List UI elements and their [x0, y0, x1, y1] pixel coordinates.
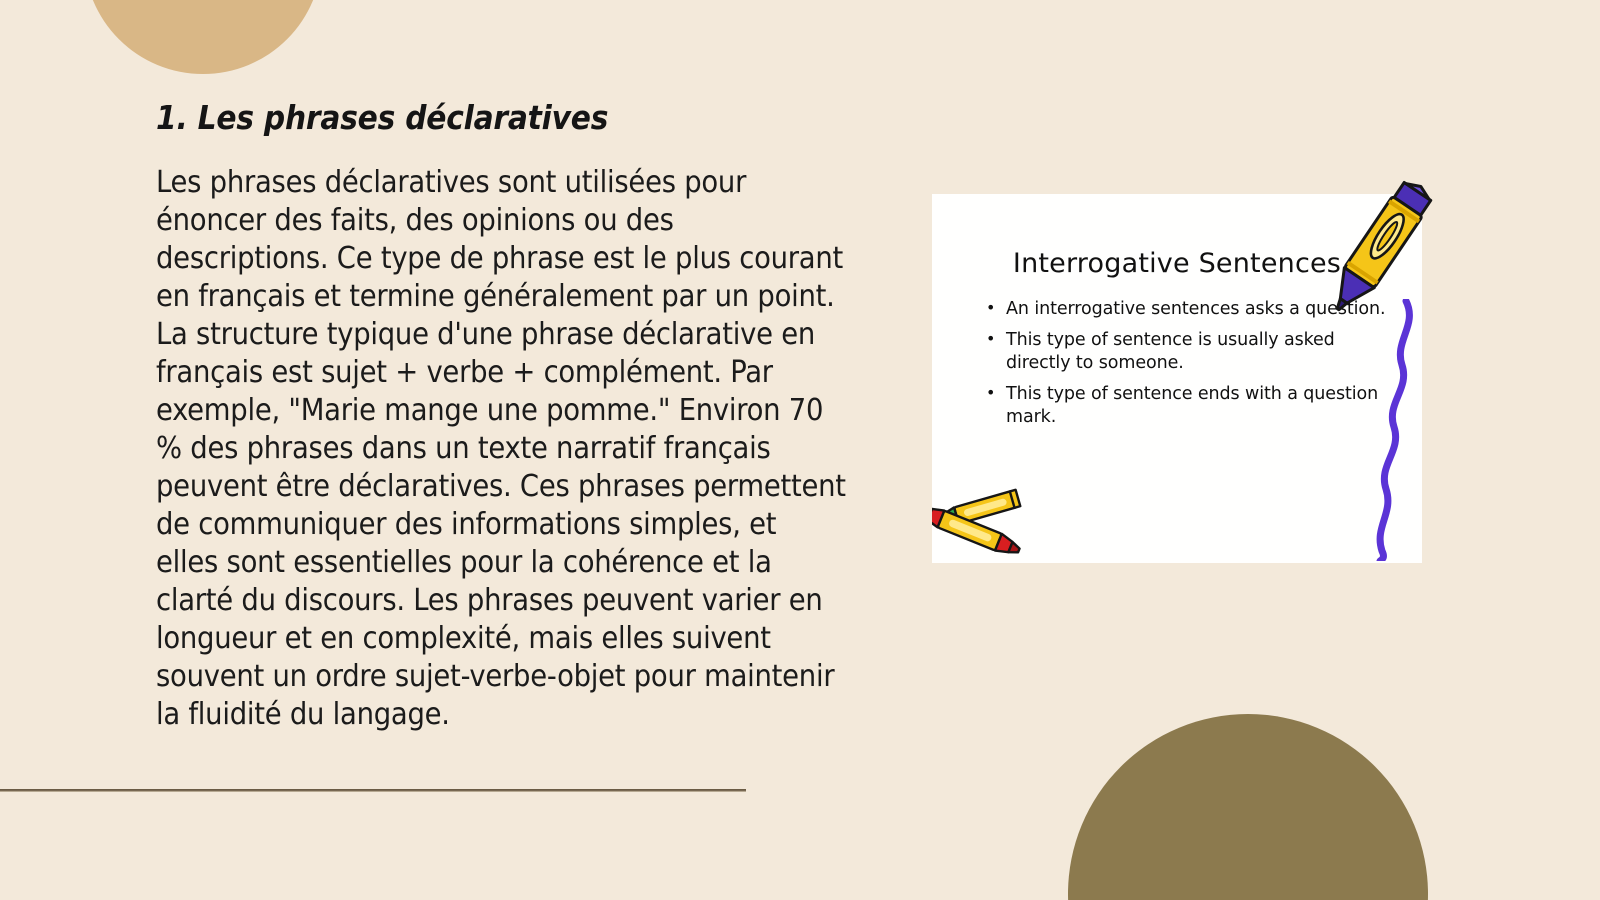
bullet-marker-icon: •	[986, 298, 995, 318]
page-title: 1. Les phrases déclaratives	[156, 100, 846, 136]
text-column: 1. Les phrases déclaratives Les phrases …	[156, 100, 846, 734]
body-paragraph: Les phrases déclaratives sont utilisées …	[156, 164, 846, 734]
picture-card-inner: Interrogative Sentences • An interrogati…	[932, 194, 1422, 563]
crossed-crayons-icon	[932, 481, 1038, 561]
list-item: • An interrogative sentences asks a ques…	[984, 298, 1386, 320]
card-heading: Interrogative Sentences	[932, 248, 1422, 279]
list-item: • This type of sentence is usually asked…	[984, 329, 1386, 374]
bullet-marker-icon: •	[986, 329, 995, 349]
decorative-circle-top-left	[84, 0, 322, 74]
card-bullet-list: • An interrogative sentences asks a ques…	[984, 298, 1386, 437]
list-item: • This type of sentence ends with a ques…	[984, 383, 1386, 428]
list-item-label: This type of sentence ends with a questi…	[1006, 384, 1378, 426]
bullet-marker-icon: •	[986, 383, 995, 403]
divider-rule	[0, 789, 746, 792]
picture-card: Interrogative Sentences • An interrogati…	[932, 194, 1422, 563]
list-item-label: An interrogative sentences asks a questi…	[1006, 299, 1385, 319]
slide-canvas: 1. Les phrases déclaratives Les phrases …	[0, 0, 1600, 900]
list-item-label: This type of sentence is usually asked d…	[1006, 330, 1335, 372]
decorative-circle-bottom-right	[1068, 714, 1428, 900]
